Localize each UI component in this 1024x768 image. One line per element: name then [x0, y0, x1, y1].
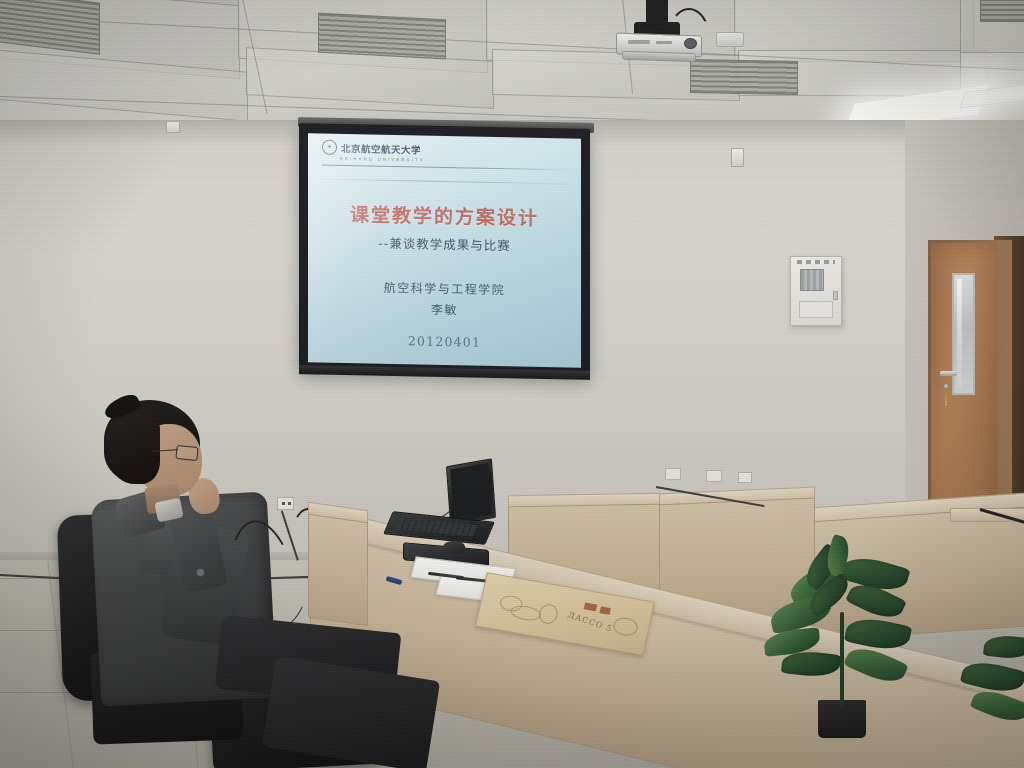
wall-fixture-left — [166, 121, 180, 133]
envelope-stamp-2 — [599, 606, 610, 615]
power-outlet[interactable] — [665, 468, 681, 480]
power-outlet[interactable] — [706, 470, 722, 482]
coat-button — [196, 568, 205, 577]
classroom-door[interactable] — [931, 243, 997, 515]
desk-left-front — [308, 514, 368, 626]
envelope-stamp — [584, 603, 597, 612]
panel-label-strip — [797, 260, 835, 264]
air-vent — [980, 0, 1024, 22]
panel-slot — [799, 301, 833, 318]
laptop-display — [450, 463, 492, 521]
air-vent — [318, 13, 446, 60]
hanging-keys[interactable] — [945, 389, 947, 406]
screen-surface: ✦ 北京航空航天大学 BEIHANG UNIVERSITY 课堂教学的方案设计 … — [308, 133, 581, 367]
air-vent — [690, 59, 798, 95]
wall-switch[interactable] — [731, 148, 744, 167]
projector-lens — [684, 38, 697, 49]
electrical-distribution-box[interactable] — [790, 256, 842, 326]
power-outlet[interactable] — [738, 472, 752, 483]
projection-screen[interactable]: ✦ 北京航空航天大学 BEIHANG UNIVERSITY 课堂教学的方案设计 … — [299, 123, 590, 378]
mans-glasses — [175, 445, 198, 461]
glass-sheen — [957, 279, 962, 389]
panel-latch[interactable] — [833, 291, 838, 300]
panel-meter-window — [800, 269, 824, 291]
frosted-glass-panel — [952, 273, 975, 395]
screen-glare — [308, 133, 581, 367]
smoke-detector — [716, 32, 744, 47]
door-lever-handle[interactable] — [940, 371, 957, 376]
classroom-scene: Redleaf ✦ 北京航空航天大学 BEIHANG UNIVERSITY 课堂… — [0, 0, 1024, 768]
black-accessory[interactable] — [443, 541, 465, 554]
power-outlet[interactable] — [277, 497, 294, 510]
